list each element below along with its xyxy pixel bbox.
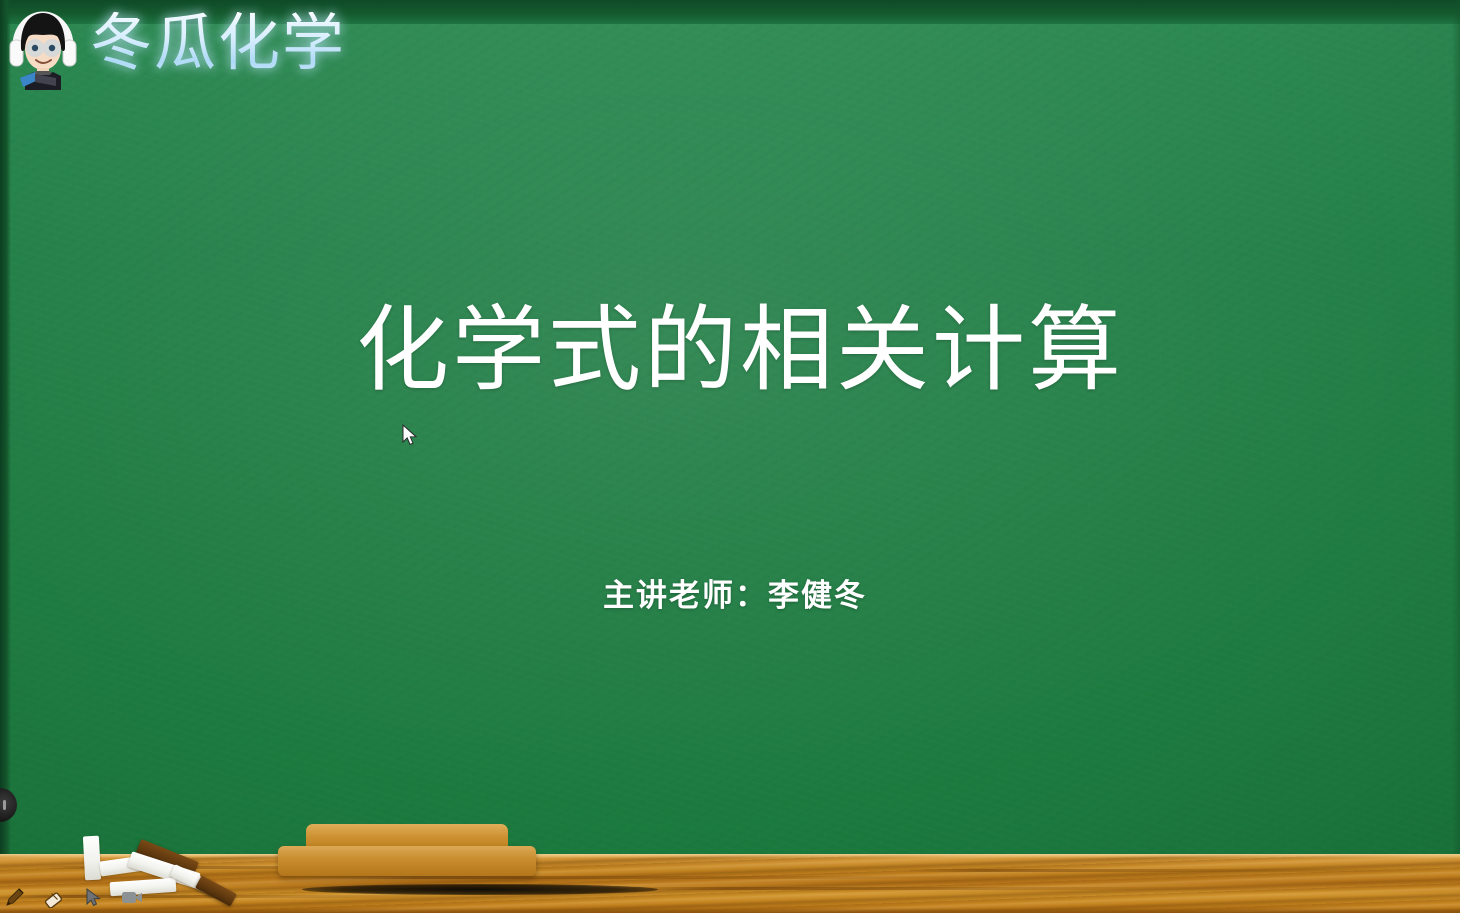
annotation-toolbar[interactable]: [0, 880, 145, 913]
chalkboard-left-frame: [0, 0, 11, 860]
wood-grain: [620, 887, 1320, 890]
wooden-stand-base: [278, 846, 536, 876]
chalk-tray-highlight: [0, 854, 1460, 858]
wood-grain: [900, 869, 1440, 872]
page-title: 化学式的相关计算: [0, 300, 1460, 400]
avatar: [4, 2, 82, 90]
stand-drop-shadow: [302, 884, 658, 895]
lesson-slide-screen: 冬瓜化学 化学式的相关计算 主讲老师：李健冬: [0, 0, 1460, 913]
chalkboard-right-frame: [1452, 0, 1460, 860]
channel-watermark: 冬瓜化学: [4, 2, 346, 90]
video-camera-icon[interactable]: [119, 884, 145, 910]
pen-icon[interactable]: [2, 884, 28, 910]
chalkboard-surface: [0, 0, 1460, 860]
chalk-tray: [0, 854, 1460, 913]
presenter-subtitle: 主讲老师：李健冬: [0, 570, 1460, 615]
cursor-icon[interactable]: [80, 884, 106, 910]
eraser-icon[interactable]: [41, 884, 67, 910]
chalk-stick: [83, 836, 101, 881]
chalk-tray-shadow: [0, 908, 1460, 913]
brand-name: 冬瓜化学: [90, 12, 346, 80]
wooden-stand: [278, 824, 536, 880]
